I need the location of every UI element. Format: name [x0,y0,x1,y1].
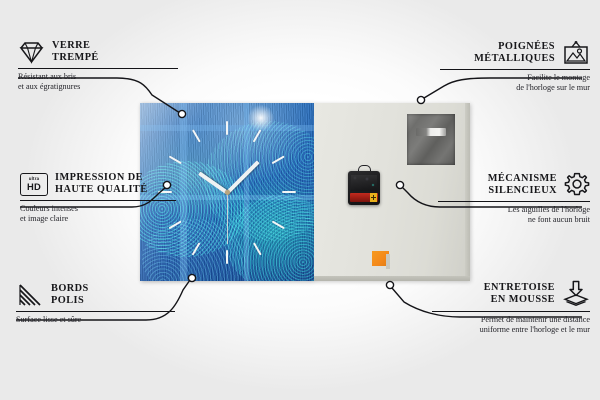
feature-divider [20,200,176,201]
ultra-hd-icon: ultra HD [20,173,48,196]
feature-title-line2: SILENCIEUX [488,185,557,197]
feature-title: POIGNÉES MÉTALLIQUES [474,41,555,66]
hd-icon-main-text: HD [27,182,41,191]
feature-title-line1: BORDS [51,283,89,295]
feature-subtitle: Surface lisse et sûre [16,315,175,325]
feature-divider [16,311,175,312]
quartz-mechanism-part [348,171,380,205]
feature-sub-line1: Les aiguilles de l'horloge [438,205,590,215]
feature-sub-line1: Facilite le montage [440,73,590,83]
metal-handle-part [407,114,455,165]
feature-title-line2: EN MOUSSE [484,294,555,306]
feature-title: ENTRETOISE EN MOUSSE [484,282,555,307]
leader-dot-entretoise [386,281,393,288]
clock-center-cap [225,190,230,195]
feature-subtitle: Facilite le montage de l'horloge sur le … [440,73,590,93]
hatched-edge-icon [16,283,44,307]
feature-title-line2: HAUTE QUALITÉ [55,184,148,196]
feature-subtitle: Résistant aux bris et aux égratignures [18,72,178,92]
feature-sub-line2: ne font aucun bruit [438,215,590,225]
feature-header: POIGNÉES MÉTALLIQUES [440,40,590,66]
feature-title-line2: TREMPÉ [52,52,99,64]
feature-title-line1: ENTRETOISE [484,282,555,294]
mechanism-detail [351,175,377,191]
handle-slot [416,128,446,136]
feature-header: VERRE TREMPÉ [18,40,178,65]
feature-sub-line2: et aux égratignures [18,82,178,92]
feature-sub-line2: et image claire [20,214,176,224]
feature-entretoise-en-mousse: ENTRETOISE EN MOUSSE Permet de maintenir… [432,280,590,335]
framed-picture-hanging-icon [562,40,590,66]
feature-verre-trempe: VERRE TREMPÉ Résistant aux bris et aux é… [18,40,178,92]
feature-subtitle: Couleurs intenses et image claire [20,204,176,224]
feature-title: IMPRESSION DE HAUTE QUALITÉ [55,172,148,197]
product-image [140,103,470,281]
arrow-onto-stacked-layers-icon [562,280,590,308]
feature-sub-line1: Couleurs intenses [20,204,176,214]
feature-title-line1: MÉCANISME [488,173,557,185]
feature-header: ENTRETOISE EN MOUSSE [432,280,590,308]
feature-poignees-metalliques: POIGNÉES MÉTALLIQUES Facilite le montage… [440,40,590,93]
feature-sub-line1: Résistant aux bris [18,72,178,82]
feature-subtitle: Les aiguilles de l'horloge ne font aucun… [438,205,590,225]
feature-subtitle: Permet de maintenir une distance uniform… [432,315,590,335]
feature-divider [18,68,178,69]
feature-title: MÉCANISME SILENCIEUX [488,173,557,198]
feature-sub-line1: Surface lisse et sûre [16,315,175,325]
feature-sub-line2: uniforme entre l'horloge et le mur [432,325,590,335]
feature-header: ultra HD IMPRESSION DE HAUTE QUALITÉ [20,172,176,197]
feature-title-line1: IMPRESSION DE [55,172,148,184]
feature-impression-haute-qualite: ultra HD IMPRESSION DE HAUTE QUALITÉ Cou… [20,172,176,224]
feature-title-line2: POLIS [51,295,89,307]
gear-icon [564,172,590,198]
feature-title-line1: VERRE [52,40,99,52]
feature-mecanisme-silencieux: MÉCANISME SILENCIEUX Les aiguilles de l'… [438,172,590,225]
feature-sub-line2: de l'horloge sur le mur [440,83,590,93]
diamond-icon [18,40,45,64]
feature-title-line2: MÉTALLIQUES [474,53,555,65]
feature-divider [438,201,590,202]
feature-header: BORDS POLIS [16,283,175,308]
feature-divider [440,69,590,70]
infographic-canvas: VERRE TREMPÉ Résistant aux bris et aux é… [0,0,600,400]
battery-part [350,193,378,202]
foam-spacer-part [372,251,389,266]
feature-title-line1: POIGNÉES [474,41,555,53]
feature-divider [432,311,590,312]
feature-bords-polis: BORDS POLIS Surface lisse et sûre [16,283,175,325]
battery-terminal [370,193,377,202]
feature-title: VERRE TREMPÉ [52,40,99,65]
feature-sub-line1: Permet de maintenir une distance [432,315,590,325]
feature-header: MÉCANISME SILENCIEUX [438,172,590,198]
feature-title: BORDS POLIS [51,283,89,308]
clock-second-hand [227,192,228,244]
